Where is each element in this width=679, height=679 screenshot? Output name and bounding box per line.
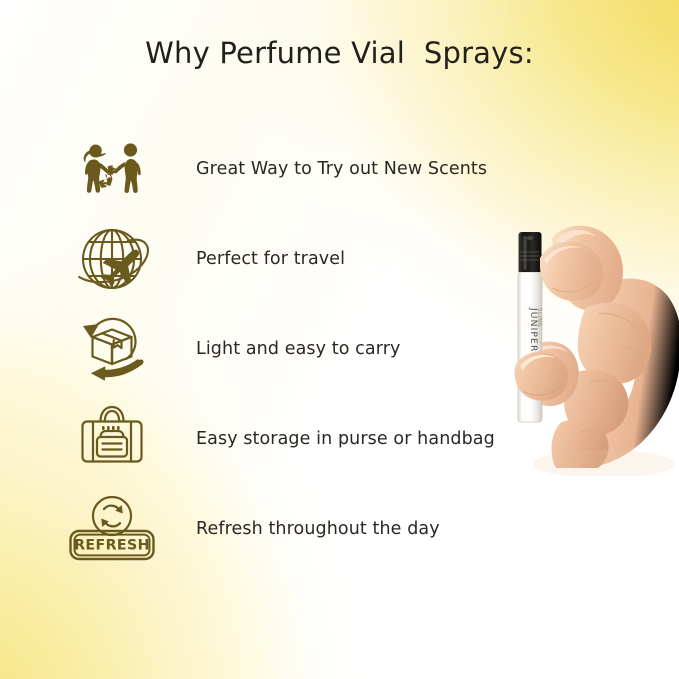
feature-label: Light and easy to carry xyxy=(196,339,400,360)
refresh-button-text: REFRESH xyxy=(74,538,150,554)
feature-item: Great Way to Try out New Scents xyxy=(0,124,520,214)
vial-glass-highlight xyxy=(521,276,524,418)
handbag-purse-icon xyxy=(64,401,160,477)
poster-canvas: Why Perfume Vial Sprays: xyxy=(0,0,679,679)
feature-item: REFRESH Refresh throughout the day xyxy=(0,484,520,574)
feature-item: Light and easy to carry xyxy=(0,304,520,394)
hand-holding-perfume-vial-photo: JUNIPER SLING xyxy=(494,196,679,476)
feature-item: Perfect for travel xyxy=(0,214,520,304)
feature-label: Perfect for travel xyxy=(196,249,345,270)
refresh-button-icon: REFRESH xyxy=(64,491,160,567)
feature-label: Easy storage in purse or handbag xyxy=(196,429,495,450)
page-title: Why Perfume Vial Sprays: xyxy=(0,36,679,70)
vial-label-sub: SLING xyxy=(536,308,542,328)
two-people-sharing-perfume-icon xyxy=(64,131,160,207)
globe-airplane-travel-icon xyxy=(64,221,160,297)
feature-list: Great Way to Try out New Scents xyxy=(0,124,520,574)
vial-nozzle xyxy=(527,236,534,240)
feature-label: Refresh throughout the day xyxy=(196,519,440,540)
package-box-in-hand-icon xyxy=(64,311,160,387)
cap-highlight xyxy=(524,236,527,270)
feature-item: Easy storage in purse or handbag xyxy=(0,394,520,484)
feature-label: Great Way to Try out New Scents xyxy=(196,159,487,180)
